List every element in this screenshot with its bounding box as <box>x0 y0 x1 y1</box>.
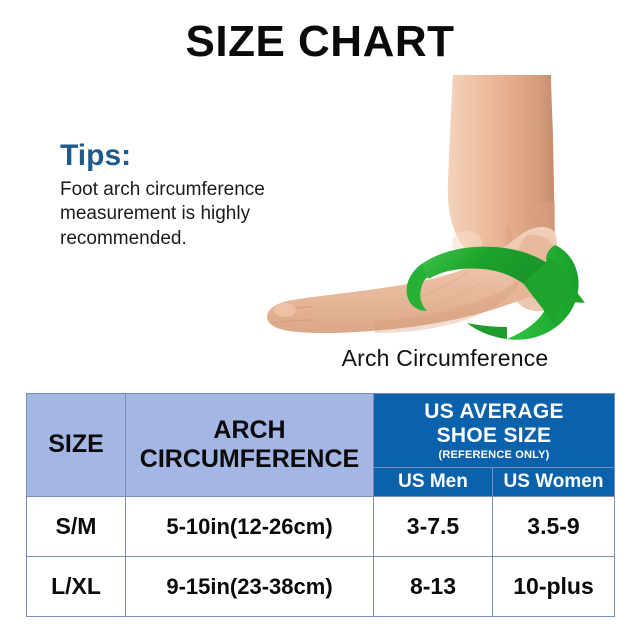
header-shoe-line1: US AVERAGE <box>424 400 564 423</box>
page-title: SIZE CHART <box>0 18 640 66</box>
header-cell-us-women: US Women <box>493 468 615 497</box>
cell-us-men: 8-13 <box>374 557 493 617</box>
foot-illustration <box>255 75 640 370</box>
cell-us-women: 3.5-9 <box>493 497 615 557</box>
header-cell-size: SIZE <box>27 394 126 497</box>
table-row: L/XL 9-15in(23-38cm) 8-13 10-plus <box>27 557 615 617</box>
header-cell-us-average-shoe-size: US AVERAGE SHOE SIZE (REFERENCE ONLY) <box>374 394 615 468</box>
size-chart-table: SIZE ARCH CIRCUMFERENCE US AVERAGE SHOE … <box>26 393 615 617</box>
header-shoe-line2: SHOE SIZE <box>437 424 552 447</box>
cell-us-men: 3-7.5 <box>374 497 493 557</box>
header-cell-arch-circumference: ARCH CIRCUMFERENCE <box>126 394 374 497</box>
table-header-row-main: SIZE ARCH CIRCUMFERENCE US AVERAGE SHOE … <box>27 394 615 468</box>
header-arch-line1: ARCH CIRCUMFERENCE <box>140 416 359 474</box>
header-shoe-reference-note: (REFERENCE ONLY) <box>374 449 614 461</box>
cell-size: L/XL <box>27 557 126 617</box>
cell-us-women: 10-plus <box>493 557 615 617</box>
cell-size: S/M <box>27 497 126 557</box>
table-body: S/M 5-10in(12-26cm) 3-7.5 3.5-9 L/XL 9-1… <box>27 497 615 617</box>
header-cell-us-men: US Men <box>374 468 493 497</box>
table-header: SIZE ARCH CIRCUMFERENCE US AVERAGE SHOE … <box>27 394 615 497</box>
table-row: S/M 5-10in(12-26cm) 3-7.5 3.5-9 <box>27 497 615 557</box>
cell-arch-circumference: 9-15in(23-38cm) <box>126 557 374 617</box>
arch-circumference-caption: Arch Circumference <box>300 345 590 372</box>
cell-arch-circumference: 5-10in(12-26cm) <box>126 497 374 557</box>
